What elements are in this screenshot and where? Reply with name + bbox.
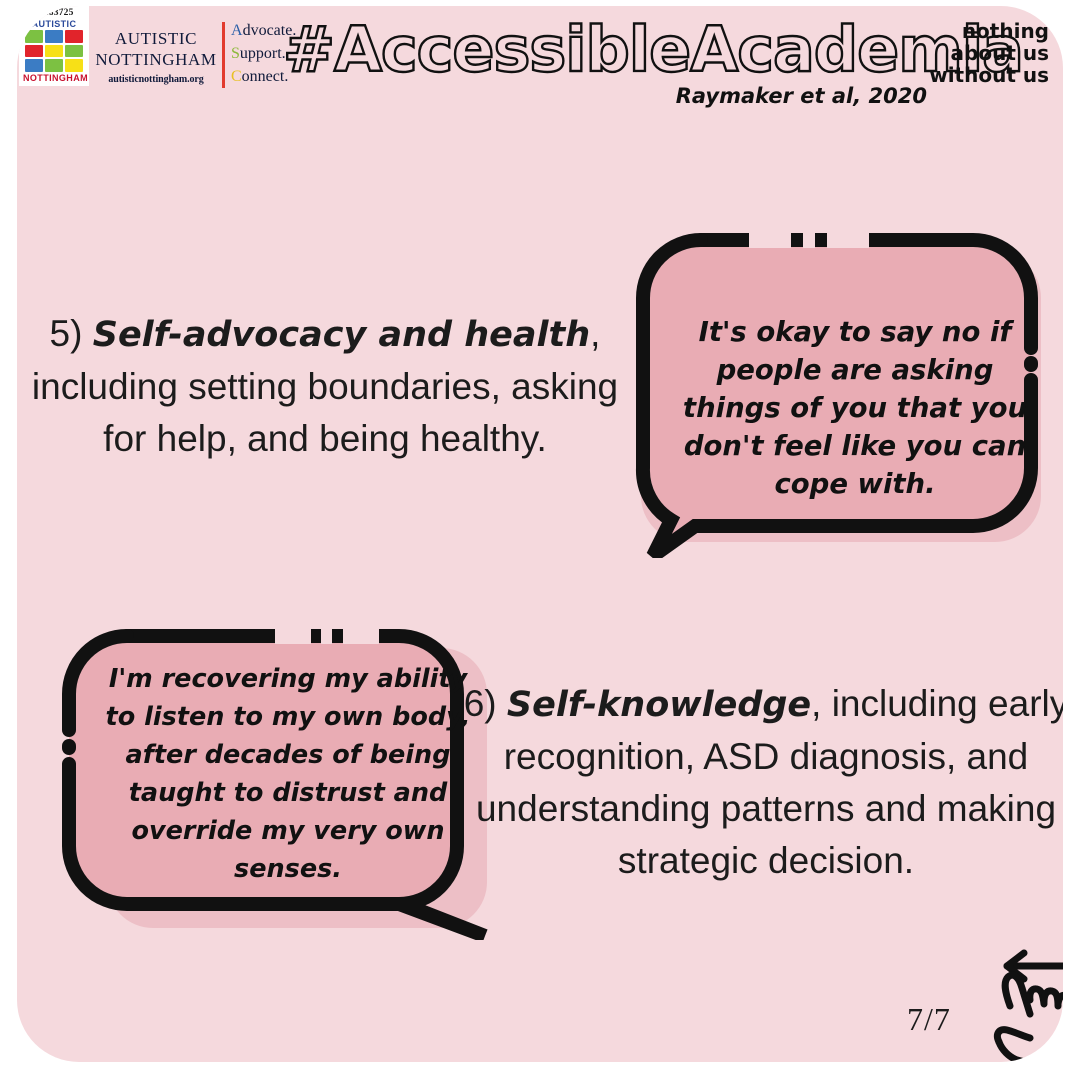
- logo-cell-6: [65, 45, 83, 58]
- org-name-line-1: AUTISTIC: [95, 28, 217, 49]
- quote-bubble-1-text: It's okay to say no if people are asking…: [665, 313, 1045, 503]
- logo-cell-3: [65, 30, 83, 43]
- logo-cell-4: [25, 45, 43, 58]
- swipe-left-hand-icon[interactable]: [977, 944, 1063, 1062]
- organisation-logo: #1183725 AUTISTIC NOTTINGHAM: [19, 6, 89, 86]
- tagline-line-1: nothing: [929, 20, 1049, 42]
- quote-bubble-1: It's okay to say no if people are asking…: [631, 228, 1063, 558]
- logo-cell-5: [45, 45, 63, 58]
- poster-card: #1183725 AUTISTIC NOTTINGHAM AUTISTI: [17, 6, 1063, 1062]
- logo-cell-1: [25, 30, 43, 43]
- logo-bottom-word: NOTTINGHAM: [23, 73, 85, 83]
- value-support-initial: S: [231, 45, 240, 62]
- organisation-name: AUTISTIC NOTTINGHAM autisticnottingham.o…: [95, 28, 217, 85]
- list-item-6: 6) Self-knowledge, including early recog…: [459, 678, 1063, 887]
- tagline-line-3: without us: [929, 64, 1049, 86]
- item-6-number: 6): [464, 683, 497, 724]
- value-support-rest: upport.: [240, 45, 286, 62]
- tagline: nothing about us without us: [929, 20, 1049, 86]
- logo-cell-7: [25, 59, 43, 72]
- header-divider: [222, 22, 225, 88]
- page-indicator: 7/7: [907, 1001, 951, 1038]
- logo-color-grid-icon: [25, 30, 83, 72]
- item-5-title: Self-advocacy and health: [93, 315, 590, 355]
- value-advocate-initial: A: [231, 22, 243, 39]
- value-connect-initial: C: [231, 68, 242, 85]
- logo-cell-9: [65, 59, 83, 72]
- logo-cell-2: [45, 30, 63, 43]
- value-connect-rest: onnect.: [242, 68, 289, 85]
- item-5-number: 5): [50, 313, 83, 354]
- campaign-hashtag: #AccessibleAcademia: [283, 13, 1023, 86]
- logo-mark-icon: AUTISTIC NOTTINGHAM: [23, 19, 85, 83]
- poster-header: #1183725 AUTISTIC NOTTINGHAM AUTISTI: [17, 6, 1063, 110]
- list-item-5: 5) Self-advocacy and health, including s…: [25, 308, 625, 465]
- organisation-url[interactable]: autisticnottingham.org: [95, 74, 217, 85]
- logo-cell-8: [45, 59, 63, 72]
- source-citation: Raymaker et al, 2020: [647, 84, 927, 108]
- quote-bubble-2-text: I'm recovering my ability to listen to m…: [95, 660, 481, 888]
- item-6-title: Self-knowledge: [507, 685, 811, 725]
- org-name-line-2: NOTTINGHAM: [95, 49, 217, 70]
- charity-number: #1183725: [22, 8, 86, 19]
- logo-top-word: AUTISTIC: [23, 19, 85, 29]
- quote-bubble-2: I'm recovering my ability to listen to m…: [57, 624, 507, 940]
- tagline-line-2: about us: [929, 42, 1049, 64]
